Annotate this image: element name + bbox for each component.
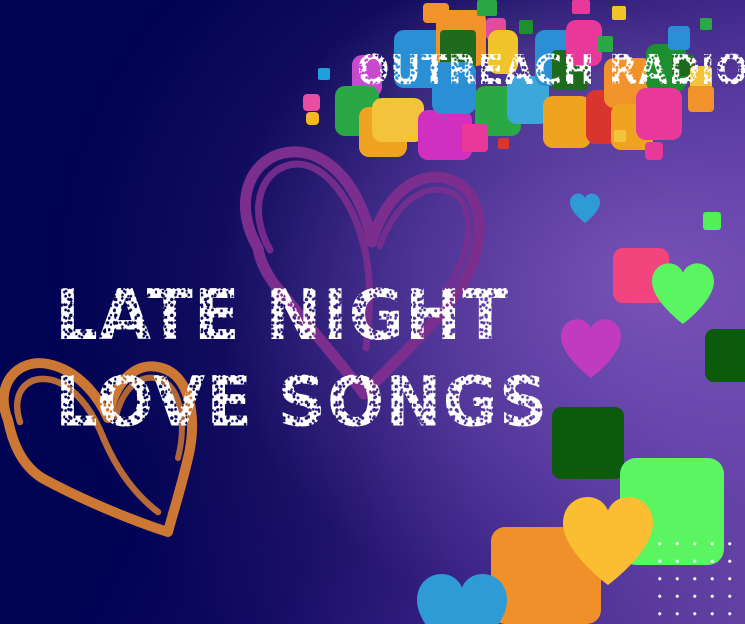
confetti-square-36 bbox=[423, 3, 449, 23]
confetti-square-34 bbox=[614, 130, 626, 142]
confetti-square-38 bbox=[572, 0, 590, 14]
main-title-line-2: LOVE SONGS bbox=[55, 368, 548, 437]
green-heart-medium bbox=[648, 262, 718, 324]
poster-canvas: OUTREACH RADIO LATE NIGHT LOVE SONGS bbox=[0, 0, 745, 624]
dark-green-square-1 bbox=[705, 329, 745, 382]
banner-title: OUTREACH RADIO bbox=[357, 50, 745, 91]
confetti-square-35 bbox=[498, 138, 509, 149]
dot-grid-pattern bbox=[647, 532, 745, 624]
magenta-heart bbox=[556, 318, 626, 378]
main-title-line-1: LATE NIGHT bbox=[55, 281, 509, 350]
green-square-small bbox=[703, 212, 721, 230]
confetti-square-28 bbox=[636, 88, 682, 140]
confetti-square-39 bbox=[612, 6, 626, 20]
blue-heart-small bbox=[568, 193, 602, 223]
yellow-heart bbox=[558, 495, 658, 585]
confetti-square-14 bbox=[519, 20, 533, 34]
confetti-square-2 bbox=[303, 94, 320, 111]
blue-heart-large bbox=[412, 572, 512, 624]
confetti-square-3 bbox=[306, 112, 319, 125]
confetti-square-29 bbox=[668, 26, 690, 50]
dark-green-square-2 bbox=[552, 407, 624, 479]
confetti-square-7 bbox=[372, 98, 424, 142]
confetti-square-40 bbox=[700, 18, 712, 30]
confetti-square-37 bbox=[477, 0, 497, 16]
confetti-square-1 bbox=[318, 68, 330, 80]
confetti-square-20 bbox=[543, 96, 591, 148]
confetti-square-33 bbox=[645, 142, 663, 160]
